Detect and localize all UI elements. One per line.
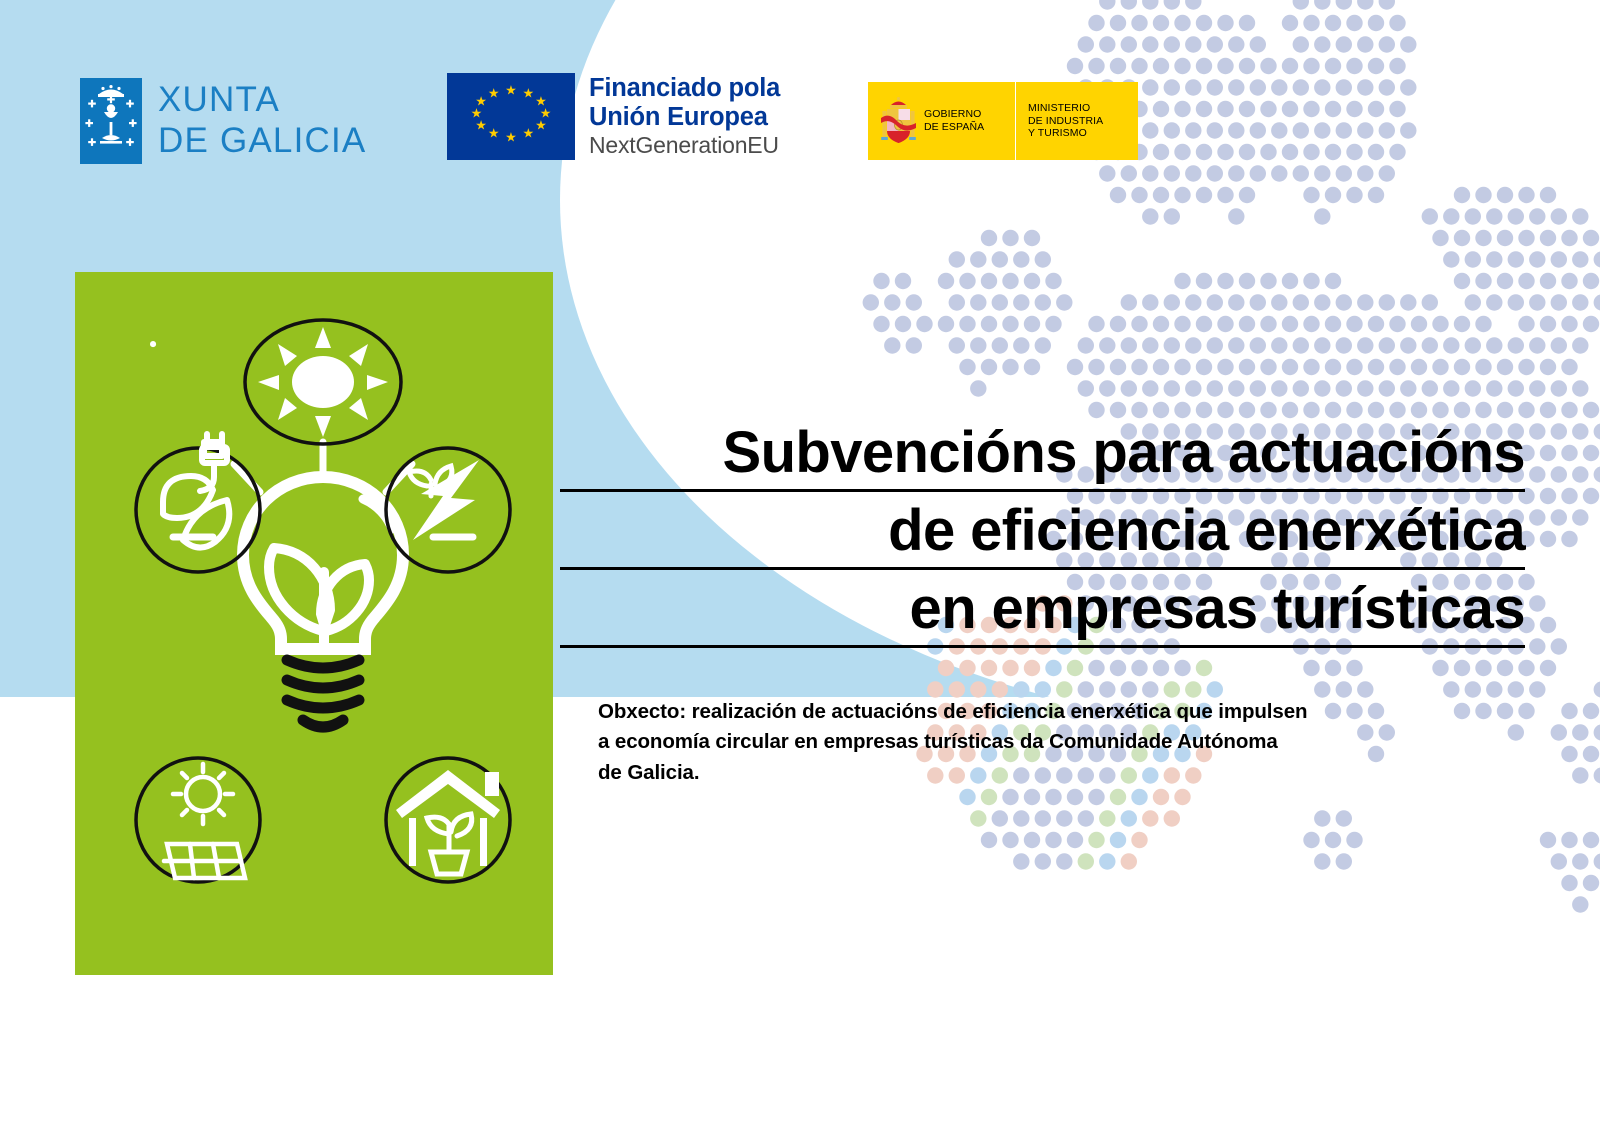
objective-line-1: Obxecto: realización de actuacións de ef… (598, 697, 1428, 727)
headline-line-2: de eficiencia enerxética (560, 502, 1525, 570)
ministerio-line-3: Y TURISMO (1028, 127, 1087, 139)
sun-icon (245, 320, 401, 444)
ministerio-label: MINISTERIO DE INDUSTRIA Y TURISMO (1028, 102, 1103, 140)
energy-efficiency-illustration (75, 272, 553, 975)
gobierno-block: GOBIERNO DE ESPAÑA (868, 82, 1016, 160)
headline-line-1: Subvencións para actuacións (560, 424, 1525, 492)
objective-line-2: a economía circular en empresas turístic… (598, 727, 1428, 757)
spain-coat-of-arms-icon (880, 96, 917, 146)
xunta-line-2: DE GALICIA (158, 121, 366, 162)
eu-line-2: Unión Europea (589, 103, 780, 132)
ministerio-line-2: DE INDUSTRIA (1028, 115, 1103, 127)
xunta-wordmark: XUNTA DE GALICIA (158, 80, 366, 161)
lightbulb-with-leaf-icon (243, 477, 403, 727)
gobierno-line-1: GOBIERNO (924, 108, 981, 120)
eu-line-3: NextGenerationEU (589, 131, 780, 161)
gobierno-de-espana-logo: GOBIERNO DE ESPAÑA MINISTERIO DE INDUSTR… (868, 82, 1138, 160)
xunta-de-galicia-logo: XUNTA DE GALICIA (80, 78, 366, 164)
objective-line-3: de Galicia. (598, 758, 1428, 788)
headline-line-3: en empresas turísticas (560, 580, 1525, 648)
xunta-line-1: XUNTA (158, 80, 366, 121)
ministerio-block: MINISTERIO DE INDUSTRIA Y TURISMO (1016, 82, 1103, 160)
gobierno-line-2: DE ESPAÑA (924, 121, 984, 133)
page-title: Subvencións para actuacións de eficienci… (560, 424, 1525, 648)
poster-canvas: XUNTA DE GALICIA ★ ★ ★ ★ ★ ★ ★ ★ ★ ★ ★ ★… (0, 0, 1600, 1131)
solar-panel-with-sun-icon (136, 758, 260, 882)
lightning-bolt-with-sprout-icon (386, 448, 510, 572)
ministerio-line-1: MINISTERIO (1028, 102, 1090, 114)
gobierno-label: GOBIERNO DE ESPAÑA (924, 108, 984, 134)
eu-funding-wordmark: Financiado pola Unión Europea NextGenera… (589, 73, 780, 161)
eco-house-with-plant-icon (386, 758, 510, 882)
european-union-funding-logo: ★ ★ ★ ★ ★ ★ ★ ★ ★ ★ ★ ★ Financiado pola … (447, 73, 780, 161)
eu-line-1: Financiado pola (589, 74, 780, 103)
galicia-chalice-shield-icon (80, 78, 142, 164)
funding-logos-row: XUNTA DE GALICIA ★ ★ ★ ★ ★ ★ ★ ★ ★ ★ ★ ★… (0, 0, 1600, 200)
eu-flag-icon: ★ ★ ★ ★ ★ ★ ★ ★ ★ ★ ★ ★ (447, 73, 575, 160)
objective-text: Obxecto: realización de actuacións de ef… (598, 697, 1428, 788)
